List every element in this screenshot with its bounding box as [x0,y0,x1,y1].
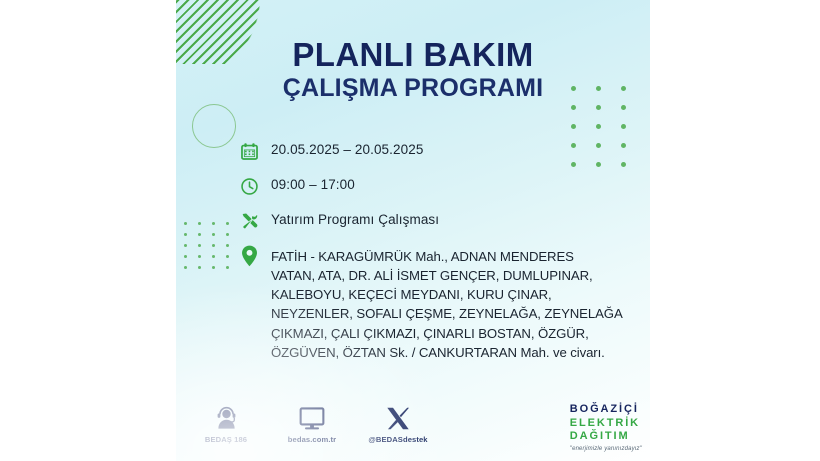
tools-icon [240,210,264,232]
address-line: ÖZGÜVEN, ÖZTAN Sk. / CANKURTARAN Mah. ve… [271,345,605,360]
detail-address-text: FATİH - KARAGÜMRÜK Mah., ADNAN MENDERES … [271,245,623,362]
maintenance-details: 20.05.2025 – 20.05.2025 09:00 – 17:00 [240,140,640,362]
poster-heading: PLANLI BAKIM ÇALIŞMA PROGRAMI [176,38,650,103]
detail-row-date: 20.05.2025 – 20.05.2025 [240,140,640,162]
planned-maintenance-poster: PLANLI BAKIM ÇALIŞMA PROGRAMI [176,0,650,461]
contact-x-label: @BEDASdestek [368,435,427,444]
address-line: NEYZENLER, SOFALI ÇEŞME, ZEYNELAĞA, ZEYN… [271,306,623,321]
brand-tagline: "enerjimizle yanınızdayız" [570,446,642,452]
page-title: PLANLI BAKIM [176,38,650,72]
circle-outline-decoration [192,104,236,148]
contact-website[interactable]: bedas.com.tr [280,401,344,444]
calendar-icon [240,140,264,162]
location-pin-icon [240,245,264,267]
clock-icon [240,175,264,197]
detail-date-range: 20.05.2025 – 20.05.2025 [271,140,423,158]
call-center-agent-icon [214,401,239,431]
contact-channels: BEDAŞ 186 bedas.com.tr [194,401,452,444]
contact-phone[interactable]: BEDAŞ 186 [194,401,258,444]
detail-row-address: FATİH - KARAGÜMRÜK Mah., ADNAN MENDERES … [240,245,640,362]
page-subtitle: ÇALIŞMA PROGRAMI [176,75,650,103]
contact-website-label: bedas.com.tr [288,435,336,444]
address-line: VATAN, ATA, DR. ALİ İSMET GENÇER, DUMLUP… [271,268,593,283]
detail-row-worktype: Yatırım Programı Çalışması [240,210,640,232]
screenshot-root: PLANLI BAKIM ÇALIŞMA PROGRAMI [0,0,820,461]
x-twitter-icon [386,401,410,431]
brand-line-3: DAĞITIM [570,430,642,444]
bedas-logo: BOĞAZİÇİ ELEKTRİK DAĞITIM "enerjimizle y… [570,403,642,452]
contact-phone-label: BEDAŞ 186 [205,435,247,444]
brand-line-2: ELEKTRİK [570,417,642,431]
address-line: FATİH - KARAGÜMRÜK Mah., ADNAN MENDERES [271,249,574,264]
contact-x-social[interactable]: @BEDASdestek [366,401,430,444]
dot-grid-left-decoration [184,222,240,277]
address-line: KALEBOYU, KEÇECİ MEYDANI, KURU ÇINAR, [271,287,552,302]
detail-work-type: Yatırım Programı Çalışması [271,210,439,228]
poster-footer: BEDAŞ 186 bedas.com.tr [176,397,650,453]
address-line: ÇIKMAZI, ÇALI ÇIKMAZI, ÇINARLI BOSTAN, Ö… [271,326,589,341]
brand-line-1: BOĞAZİÇİ [570,403,642,417]
monitor-icon [299,401,325,431]
detail-row-time: 09:00 – 17:00 [240,175,640,197]
detail-time-range: 09:00 – 17:00 [271,175,355,193]
